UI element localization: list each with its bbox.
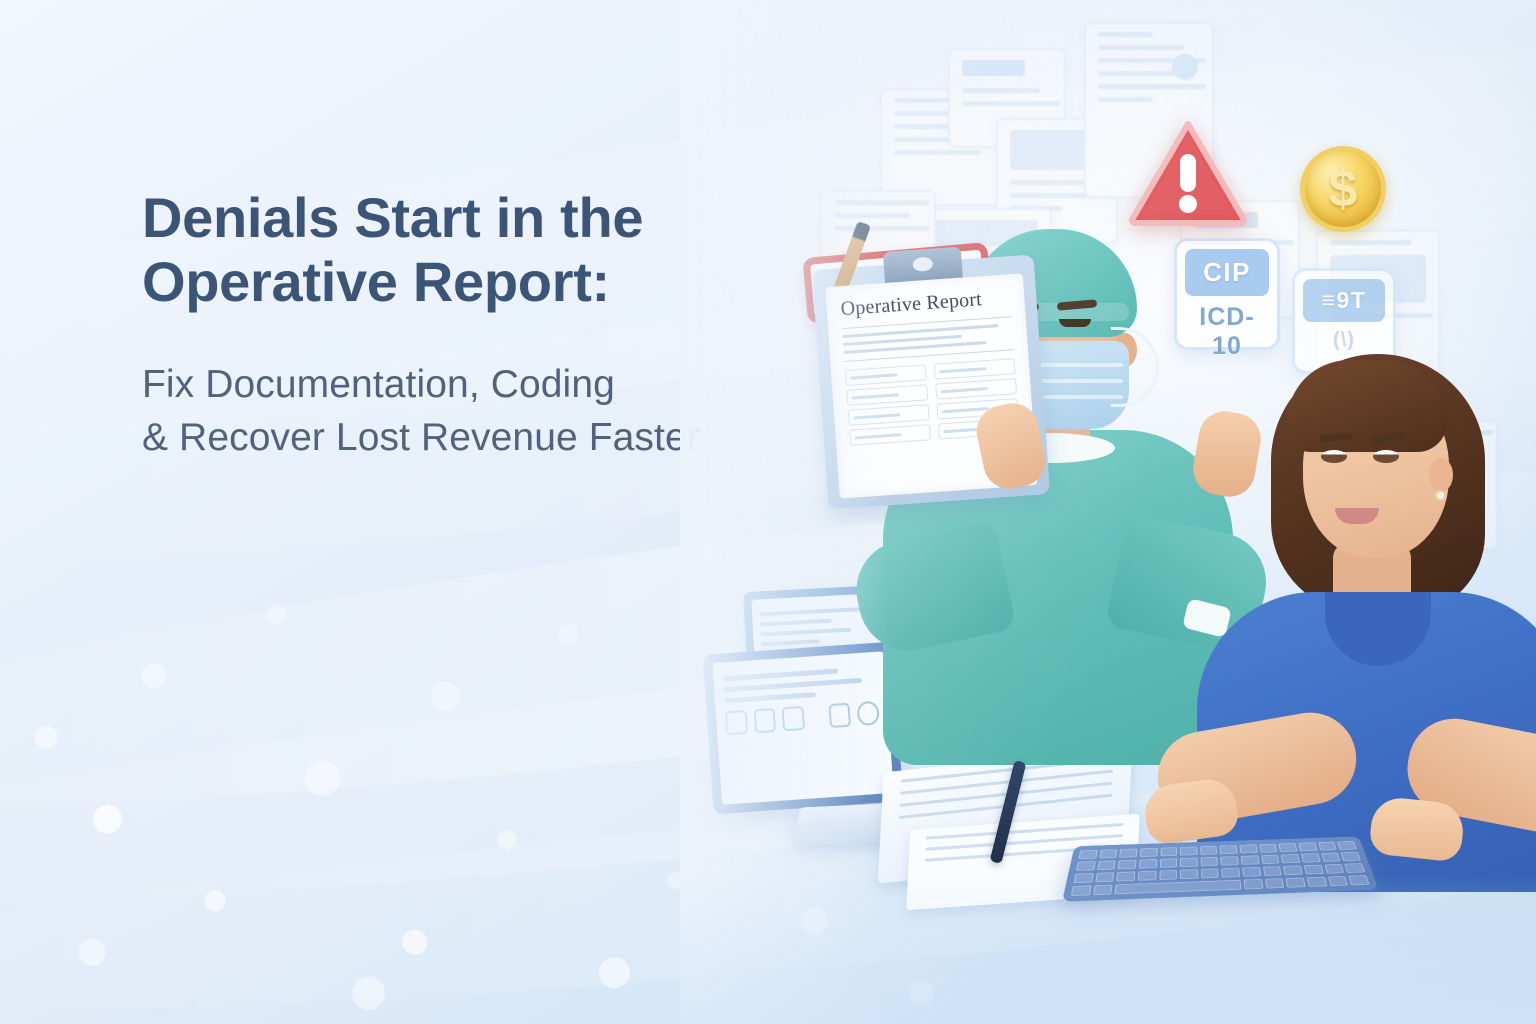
form-field bbox=[849, 424, 931, 446]
surgeon-eye bbox=[1059, 319, 1091, 327]
nurse-eye bbox=[1373, 450, 1399, 463]
tablet-icon bbox=[828, 703, 851, 728]
mask-strap bbox=[1111, 327, 1159, 407]
nurse-eye bbox=[1321, 450, 1347, 463]
dollar-coin-icon: $ bbox=[1300, 146, 1386, 232]
form-field bbox=[934, 358, 1016, 380]
tablet-icon bbox=[725, 710, 748, 735]
nurse-figure bbox=[1175, 330, 1536, 890]
tablet-icon bbox=[782, 706, 805, 731]
tablet-icon bbox=[753, 708, 776, 733]
hero-banner: Denials Start in the Operative Report: F… bbox=[0, 0, 1536, 1024]
coin-glyph: $ bbox=[1329, 159, 1358, 219]
form-field bbox=[935, 378, 1017, 400]
form-field bbox=[845, 364, 927, 386]
form-field bbox=[846, 384, 928, 406]
document-title: Operative Report bbox=[840, 286, 1011, 321]
hero-illustration: CIP ICD-10 ≡9T (\) $ DENIED bbox=[680, 0, 1536, 1024]
nurse-ear bbox=[1429, 458, 1453, 492]
nurse-hair-front bbox=[1287, 360, 1447, 452]
form-field bbox=[848, 404, 930, 426]
code-chip-secondary: ≡9T bbox=[1303, 279, 1385, 322]
earring-icon bbox=[1437, 492, 1444, 499]
